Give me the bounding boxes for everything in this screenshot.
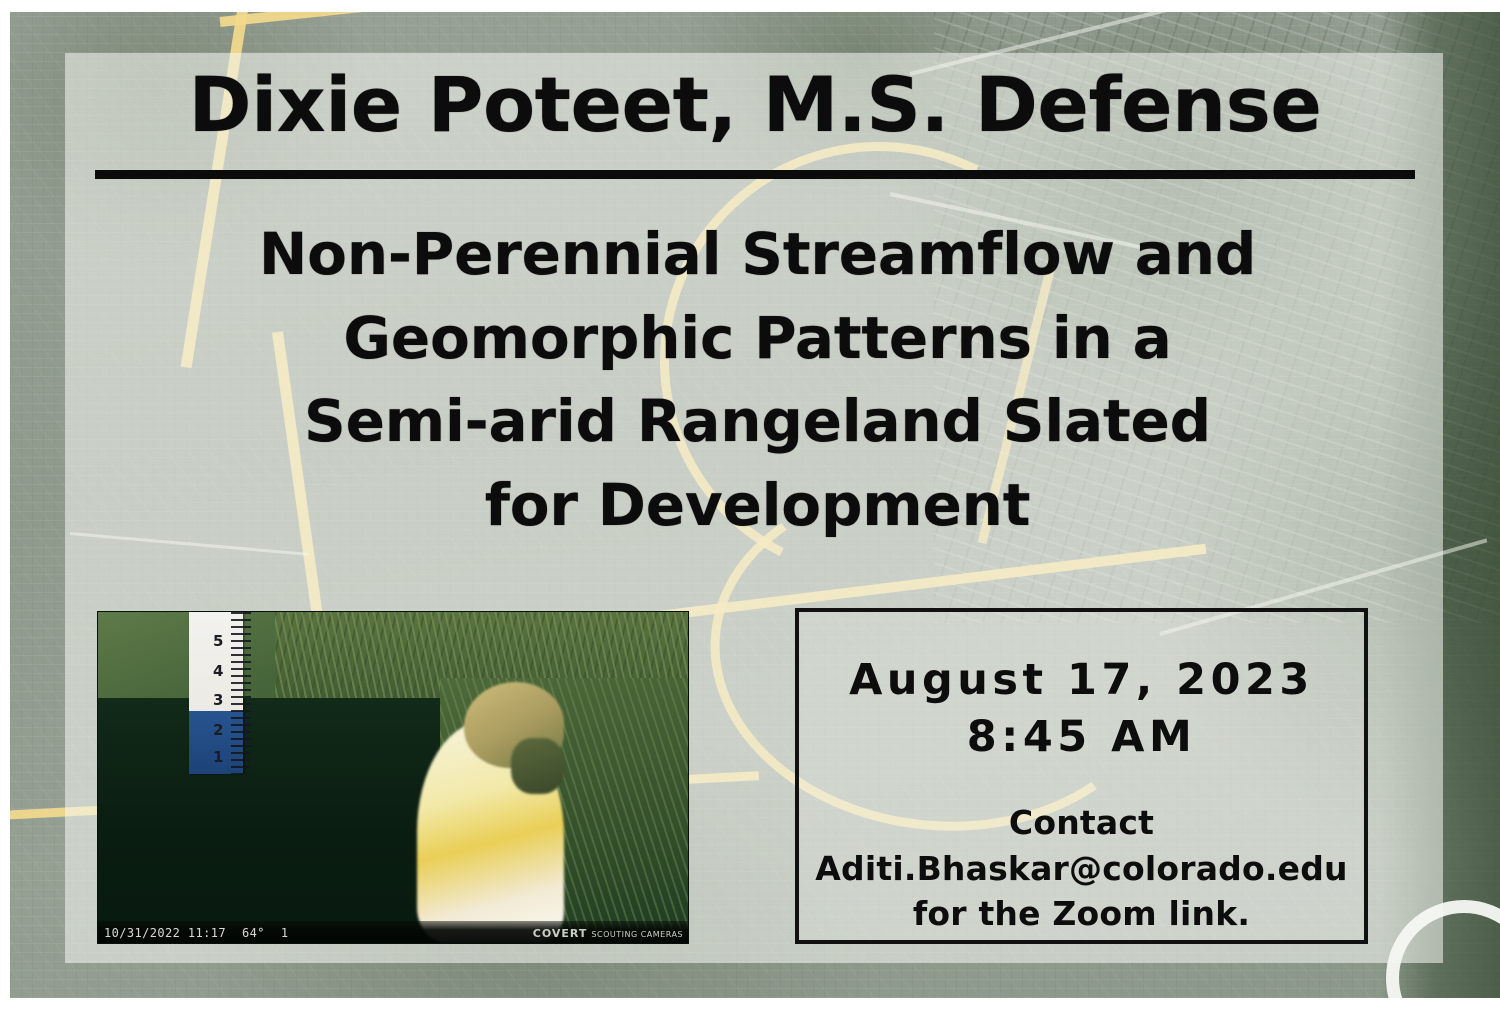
photo-brand-tagline: SCOUTING CAMERAS (591, 930, 683, 939)
staff-gauge-tick-marks (231, 612, 251, 774)
photo-timestamp: 10/31/2022 11:1764°1 (104, 926, 289, 940)
title-divider-rule (95, 170, 1415, 179)
staff-gauge-label-2: 2 (213, 721, 223, 739)
staff-gauge-label-5: 5 (213, 632, 223, 650)
contact-info: Contact Aditi.Bhaskar@colorado.edu for t… (799, 800, 1364, 937)
contact-email[interactable]: Aditi.Bhaskar@colorado.edu (799, 846, 1364, 892)
event-time: 8:45 AM (799, 712, 1364, 762)
photo-camera-brand: COVERTSCOUTING CAMERAS (533, 927, 683, 940)
subtitle-line-4: for Development (110, 464, 1405, 548)
contact-instruction: for the Zoom link. (799, 891, 1364, 937)
staff-gauge-label-1: 1 (213, 748, 223, 766)
photo-timestamp-bar: 10/31/2022 11:1764°1 COVERTSCOUTING CAME… (98, 921, 688, 943)
photo-animal-snout (511, 738, 564, 794)
photo-brand-name: COVERT (533, 927, 588, 940)
photo-frame-number: 1 (281, 926, 289, 940)
event-details-box: August 17, 2023 8:45 AM Contact Aditi.Bh… (795, 608, 1368, 944)
subtitle-line-2: Geomorphic Patterns in a (110, 297, 1405, 381)
page-title: Dixie Poteet, M.S. Defense (95, 66, 1415, 144)
subtitle-line-3: Semi-arid Rangeland Slated (110, 380, 1405, 464)
photo-temperature: 64° (242, 926, 265, 940)
subtitle-line-1: Non-Perennial Streamflow and (110, 213, 1405, 297)
event-date: August 17, 2023 (799, 654, 1364, 706)
presentation-subtitle: Non-Perennial Streamflow and Geomorphic … (110, 213, 1405, 547)
contact-label: Contact (799, 800, 1364, 846)
photo-timestamp-datetime: 10/31/2022 11:17 (104, 926, 226, 940)
headline-block: Dixie Poteet, M.S. Defense (95, 66, 1415, 179)
presentation-flyer: Dixie Poteet, M.S. Defense Non-Perennial… (0, 0, 1500, 1016)
staff-gauge-label-4: 4 (213, 662, 223, 680)
staff-gauge-label-3: 3 (213, 691, 223, 709)
trail-camera-photo: 5 4 3 2 1 10/31/2022 11:1764°1 COVERTSCO… (97, 611, 689, 944)
